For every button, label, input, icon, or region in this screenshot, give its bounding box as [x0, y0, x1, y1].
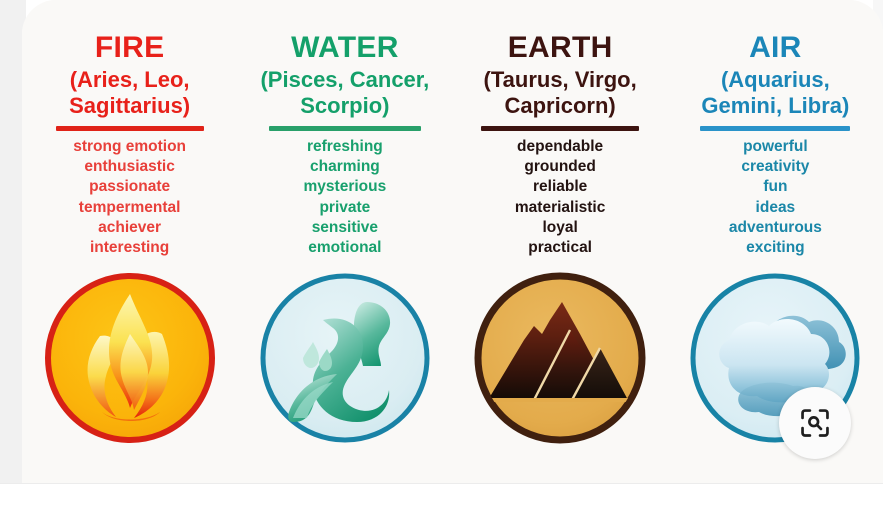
list-item: achiever: [73, 218, 186, 238]
list-item: private: [304, 198, 387, 218]
water-signs: (Pisces, Cancer, Scorpio): [256, 67, 433, 119]
air-signs: (Aquarius, Gemini, Libra): [697, 67, 853, 119]
earth-emblem-icon: [474, 272, 646, 444]
list-item: creativity: [729, 157, 822, 177]
list-item: mysterious: [304, 177, 387, 197]
list-item: adventurous: [729, 218, 822, 238]
element-column-fire: FIRE (Aries, Leo, Sagittarius) strong em…: [22, 0, 237, 444]
water-heading: WATER: [291, 32, 399, 64]
list-item: grounded: [515, 157, 605, 177]
list-item: sensitive: [304, 218, 387, 238]
list-item: enthusiastic: [73, 157, 186, 177]
list-item: charming: [304, 157, 387, 177]
air-divider: [700, 126, 850, 131]
list-item: powerful: [729, 137, 822, 157]
list-item: passionate: [73, 177, 186, 197]
water-traits-list: refreshing charming mysterious private s…: [304, 137, 387, 259]
water-emblem-icon: [259, 272, 431, 444]
element-column-air: AIR (Aquarius, Gemini, Libra) powerful c…: [668, 0, 883, 444]
list-item: loyal: [515, 218, 605, 238]
list-item: exciting: [729, 238, 822, 258]
google-lens-button[interactable]: [779, 387, 851, 459]
fire-emblem-icon: [44, 272, 216, 444]
element-column-earth: EARTH (Taurus, Virgo, Capricorn) dependa…: [453, 0, 668, 444]
air-traits-list: powerful creativity fun ideas adventurou…: [729, 137, 822, 259]
viewport: FIRE (Aries, Leo, Sagittarius) strong em…: [0, 0, 883, 511]
water-divider: [269, 126, 421, 131]
lens-search-icon: [798, 406, 832, 440]
list-item: practical: [515, 238, 605, 258]
list-item: dependable: [515, 137, 605, 157]
list-item: tempermental: [73, 198, 186, 218]
list-item: fun: [729, 177, 822, 197]
earth-heading: EARTH: [508, 32, 613, 64]
fire-signs: (Aries, Leo, Sagittarius): [65, 67, 194, 119]
earth-signs: (Taurus, Virgo, Capricorn): [480, 67, 641, 119]
elements-columns: FIRE (Aries, Leo, Sagittarius) strong em…: [22, 0, 883, 483]
list-item: interesting: [73, 238, 186, 258]
water-emblem-wrap: [259, 272, 431, 444]
list-item: ideas: [729, 198, 822, 218]
fire-divider: [56, 126, 204, 131]
earth-divider: [481, 126, 639, 131]
list-item: reliable: [515, 177, 605, 197]
fire-traits-list: strong emotion enthusiastic passionate t…: [73, 137, 186, 259]
fire-emblem-wrap: [44, 272, 216, 444]
list-item: refreshing: [304, 137, 387, 157]
list-item: materialistic: [515, 198, 605, 218]
list-item: strong emotion: [73, 137, 186, 157]
earth-traits-list: dependable grounded reliable materialist…: [515, 137, 605, 259]
result-image-card[interactable]: FIRE (Aries, Leo, Sagittarius) strong em…: [22, 0, 883, 483]
earth-emblem-wrap: [474, 272, 646, 444]
air-heading: AIR: [749, 32, 802, 64]
bottom-panel-inner: [38, 484, 845, 511]
element-column-water: WATER (Pisces, Cancer, Scorpio) refreshi…: [237, 0, 452, 444]
fire-heading: FIRE: [95, 32, 165, 64]
list-item: emotional: [304, 238, 387, 258]
